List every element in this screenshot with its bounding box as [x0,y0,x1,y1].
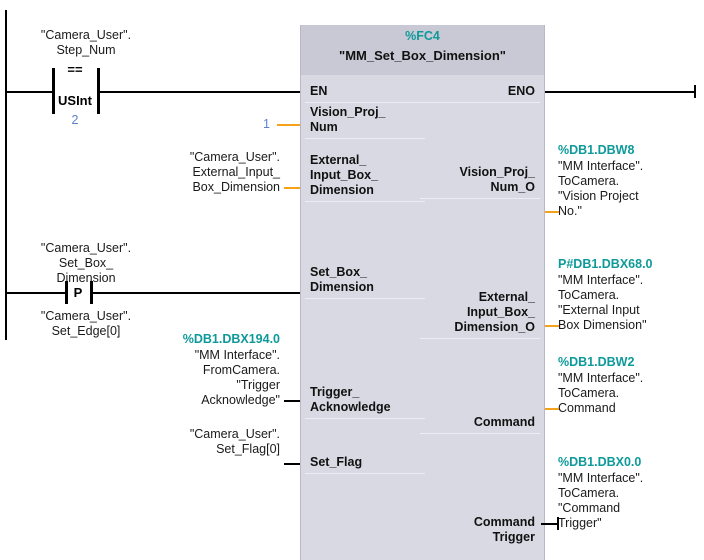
trigger-acknowledge-address: %DB1.DBX194.0 [150,332,280,348]
rung1-wire-left [6,91,52,93]
pin-separator [305,201,425,202]
pin-eno: ENO [508,84,535,100]
compare-contact-operator: == [52,62,98,77]
pin-command-trigger-line1: Command [474,515,535,531]
function-block-mm-set-box-dimension[interactable]: %FC4 "MM_Set_Box_Dimension" EN Vision_Pr… [300,25,545,560]
external-input-box-dimension-operand-line1: "Camera_User". [150,150,280,166]
pin-external-input-box-dimension-o-line1: External_ [479,290,535,306]
function-block-id: %FC4 [301,29,544,43]
command-trigger-operand-line2: ToCamera. [558,486,619,502]
compare-contact-operand-line2: Step_Num [6,43,166,59]
command-trigger-operand-line4: Trigger" [558,516,602,532]
ladder-network-canvas: "Camera_User". Step_Num == USInt 2 "Came… [0,0,704,560]
pin-separator [305,473,425,474]
pin-vision-proj-num-o-line2: Num_O [491,180,535,196]
pin-separator [420,433,540,434]
pin-vision-proj-num-o-line1: Vision_Proj_ [460,165,536,181]
command-trigger-terminator [557,517,559,530]
external-input-box-dimension-o-operand-line3: "External Input [558,303,640,319]
pin-separator [420,198,540,199]
compare-contact-operand-line1: "Camera_User". [6,28,166,44]
pin-set-flag: Set_Flag [310,455,362,471]
rung2-wire-right [92,292,300,294]
pin-separator [305,102,425,103]
pin-command: Command [474,415,535,431]
trigger-acknowledge-operand-line3: "Trigger [150,378,280,394]
command-address: %DB1.DBW2 [558,355,634,371]
eno-wire [545,91,694,93]
vision-proj-num-o-operand-line4: No." [558,204,582,220]
pin-separator [305,298,425,299]
pin-en: EN [310,84,327,100]
pin-external-input-box-dimension-line3: Dimension [310,183,374,199]
pin-separator [420,338,540,339]
external-input-box-dimension-wire [284,187,300,189]
pin-trigger-acknowledge-line2: Acknowledge [310,400,391,416]
trigger-acknowledge-operand-line1: "MM Interface". [150,348,280,364]
set-flag-operand-line1: "Camera_User". [150,427,280,443]
compare-contact-datatype: USInt [52,93,98,108]
rung1-wire-right [99,91,300,93]
edge-contact-operand-line1: "Camera_User". [6,241,166,257]
external-input-box-dimension-o-operand-line4: Box Dimension" [558,318,647,334]
pin-external-input-box-dimension-o-line2: Input_Box_ [467,305,535,321]
pin-separator [305,138,425,139]
pin-vision-proj-num-line1: Vision_Proj_ [310,105,386,121]
vision-proj-num-o-operand-line2: ToCamera. [558,174,619,190]
external-input-box-dimension-o-operand-line2: ToCamera. [558,288,619,304]
set-flag-operand-line2: Set_Flag[0] [150,442,280,458]
pin-separator [305,418,425,419]
power-rail [5,10,7,340]
eno-terminator [694,85,696,98]
pin-trigger-acknowledge-line1: Trigger_ [310,385,359,401]
command-trigger-address: %DB1.DBX0.0 [558,455,641,471]
trigger-acknowledge-operand-line2: FromCamera. [150,363,280,379]
pin-external-input-box-dimension-o-line3: Dimension_O [454,320,535,336]
vision-proj-num-o-wire [545,211,559,213]
edge-contact-operand-line2: Set_Box_ [6,256,166,272]
command-operand-line2: ToCamera. [558,386,619,402]
edge-contact-operator: P [65,285,91,300]
external-input-box-dimension-o-address: P#DB1.DBX68.0 [558,257,653,273]
pin-set-box-dimension-line1: Set_Box_ [310,265,367,281]
trigger-acknowledge-operand-line4: Acknowledge" [150,393,280,409]
vision-proj-num-o-operand-line3: "Vision Project [558,189,639,205]
external-input-box-dimension-operand-line2: External_Input_ [150,165,280,181]
command-trigger-operand-line1: "MM Interface". [558,471,643,487]
pin-set-box-dimension-line2: Dimension [310,280,374,296]
trigger-acknowledge-wire [284,400,300,402]
command-trigger-operand-line3: "Command [558,501,620,517]
pin-command-trigger-line2: Trigger [493,530,535,546]
vision-proj-num-o-address: %DB1.DBW8 [558,143,634,159]
command-operand-line3: Command [558,401,616,417]
command-operand-line1: "MM Interface". [558,371,643,387]
set-flag-wire [284,463,300,465]
vision-proj-num-constant: 1 [200,117,270,133]
external-input-box-dimension-o-wire [545,325,559,327]
external-input-box-dimension-operand-line3: Box_Dimension [150,180,280,196]
external-input-box-dimension-o-operand-line1: "MM Interface". [558,273,643,289]
pin-external-input-box-dimension-line2: Input_Box_ [310,168,378,184]
compare-contact-operand-value: 2 [52,113,98,129]
edge-contact-memory-bit-line2: Set_Edge[0] [6,324,166,340]
vision-proj-num-wire [277,124,300,126]
rung2-wire-left [6,292,65,294]
command-wire [545,408,559,410]
vision-proj-num-o-operand-line1: "MM Interface". [558,159,643,175]
pin-separator [420,102,540,103]
edge-contact-memory-bit-line1: "Camera_User". [6,309,166,325]
pin-external-input-box-dimension-line1: External_ [310,153,366,169]
function-block-name: "MM_Set_Box_Dimension" [301,48,544,63]
pin-vision-proj-num-line2: Num [310,120,338,136]
